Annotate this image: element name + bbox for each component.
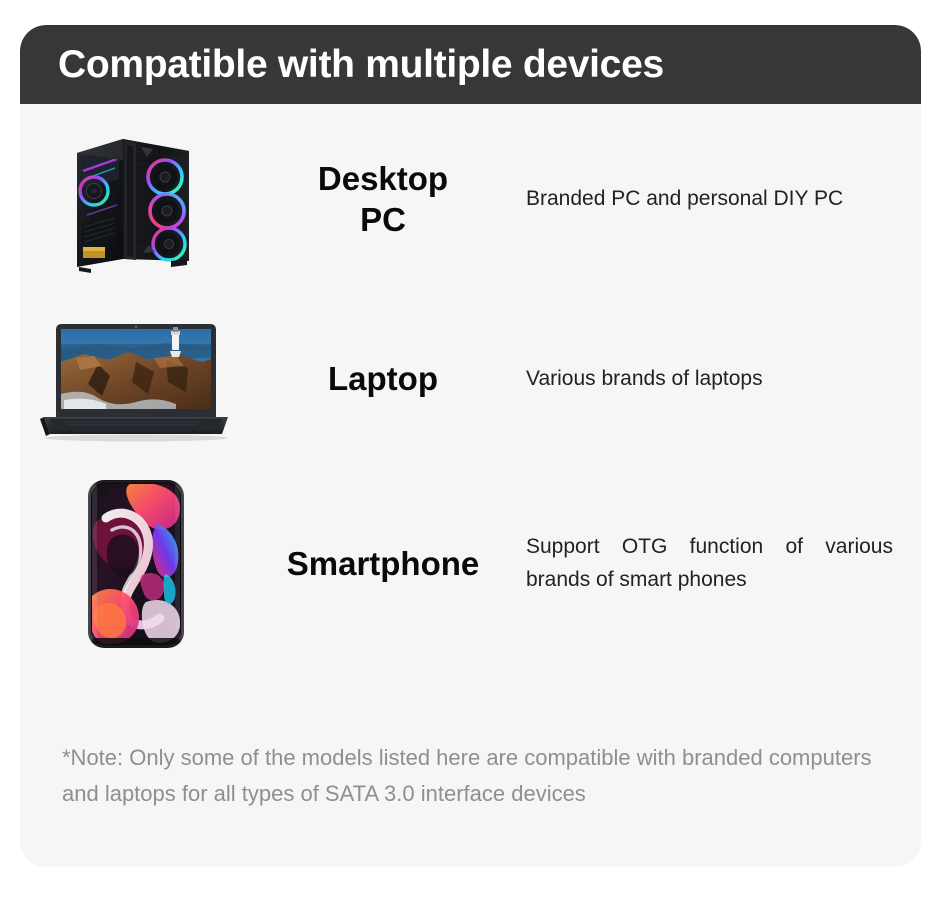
laptop-icon xyxy=(36,314,236,444)
device-row-desktop-pc: Desktop PC Branded PC and personal DIY P… xyxy=(20,104,921,294)
desktop-pc-media xyxy=(20,104,252,294)
device-description-laptop: Various brands of laptops xyxy=(514,363,921,396)
device-description-smartphone: Support OTG function of various brands o… xyxy=(514,531,921,596)
laptop-media xyxy=(20,294,252,464)
device-description-desktop-pc: Branded PC and personal DIY PC xyxy=(514,183,921,216)
page-title: Compatible with multiple devices xyxy=(58,43,664,87)
device-label-smartphone: Smartphone xyxy=(252,543,514,584)
device-label-line1: Desktop xyxy=(318,160,448,197)
card-header: Compatible with multiple devices xyxy=(20,25,921,104)
product-info-page: Compatible with multiple devices xyxy=(0,0,940,911)
device-label-desktop-pc: Desktop PC xyxy=(252,158,514,241)
device-label-laptop: Laptop xyxy=(252,358,514,399)
compatibility-note: *Note: Only some of the models listed he… xyxy=(62,740,872,811)
desktop-pc-icon xyxy=(61,119,211,279)
compatibility-card: Compatible with multiple devices xyxy=(20,25,921,867)
device-list: Desktop PC Branded PC and personal DIY P… xyxy=(20,104,921,664)
device-label-line2: PC xyxy=(360,201,406,238)
device-row-smartphone: Smartphone Support OTG function of vario… xyxy=(20,464,921,664)
device-row-laptop: Laptop Various brands of laptops xyxy=(20,294,921,464)
smartphone-icon xyxy=(86,478,186,650)
smartphone-media xyxy=(20,464,252,664)
